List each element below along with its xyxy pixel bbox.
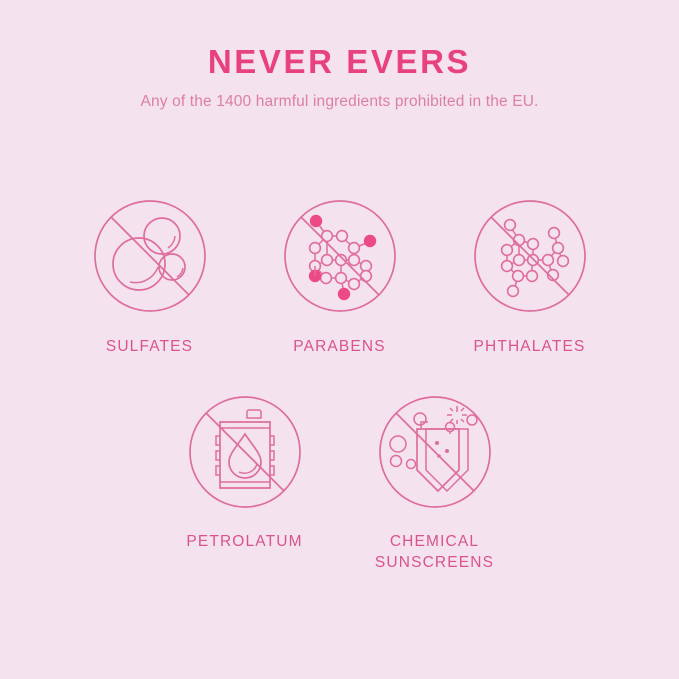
page-subtitle: Any of the 1400 harmful ingredients proh…: [0, 93, 679, 111]
never-evers-infographic: NEVER EVERS Any of the 1400 harmful ingr…: [0, 0, 679, 679]
item-label-chemical-sunscreens: CHEMICAL SUNSCREENS: [375, 532, 494, 574]
item-label-phthalates: PHTHALATES: [474, 337, 586, 358]
bubbles-no-icon: [92, 198, 208, 314]
item-sulfates: SULFATES: [55, 198, 245, 358]
item-chemical-sunscreens: CHEMICAL SUNSCREENS: [340, 394, 530, 574]
icon-row-bottom: PETROLATUM: [0, 394, 679, 574]
item-label-petrolatum: PETROLATUM: [186, 532, 302, 553]
molecule-hollow-no-icon: [472, 198, 588, 314]
item-label-sulfates: SULFATES: [106, 337, 193, 358]
header: NEVER EVERS Any of the 1400 harmful ingr…: [0, 44, 679, 111]
item-phthalates: PHTHALATES: [435, 198, 625, 358]
oil-barrel-no-icon: [187, 394, 303, 510]
sunscreen-bottle-no-icon: [377, 394, 493, 510]
icon-row-top: SULFATES: [0, 198, 679, 358]
item-label-parabens: PARABENS: [293, 337, 385, 358]
item-petrolatum: PETROLATUM: [150, 394, 340, 574]
page-title: NEVER EVERS: [0, 44, 679, 80]
item-parabens: PARABENS: [245, 198, 435, 358]
molecule-filled-no-icon: [282, 198, 398, 314]
